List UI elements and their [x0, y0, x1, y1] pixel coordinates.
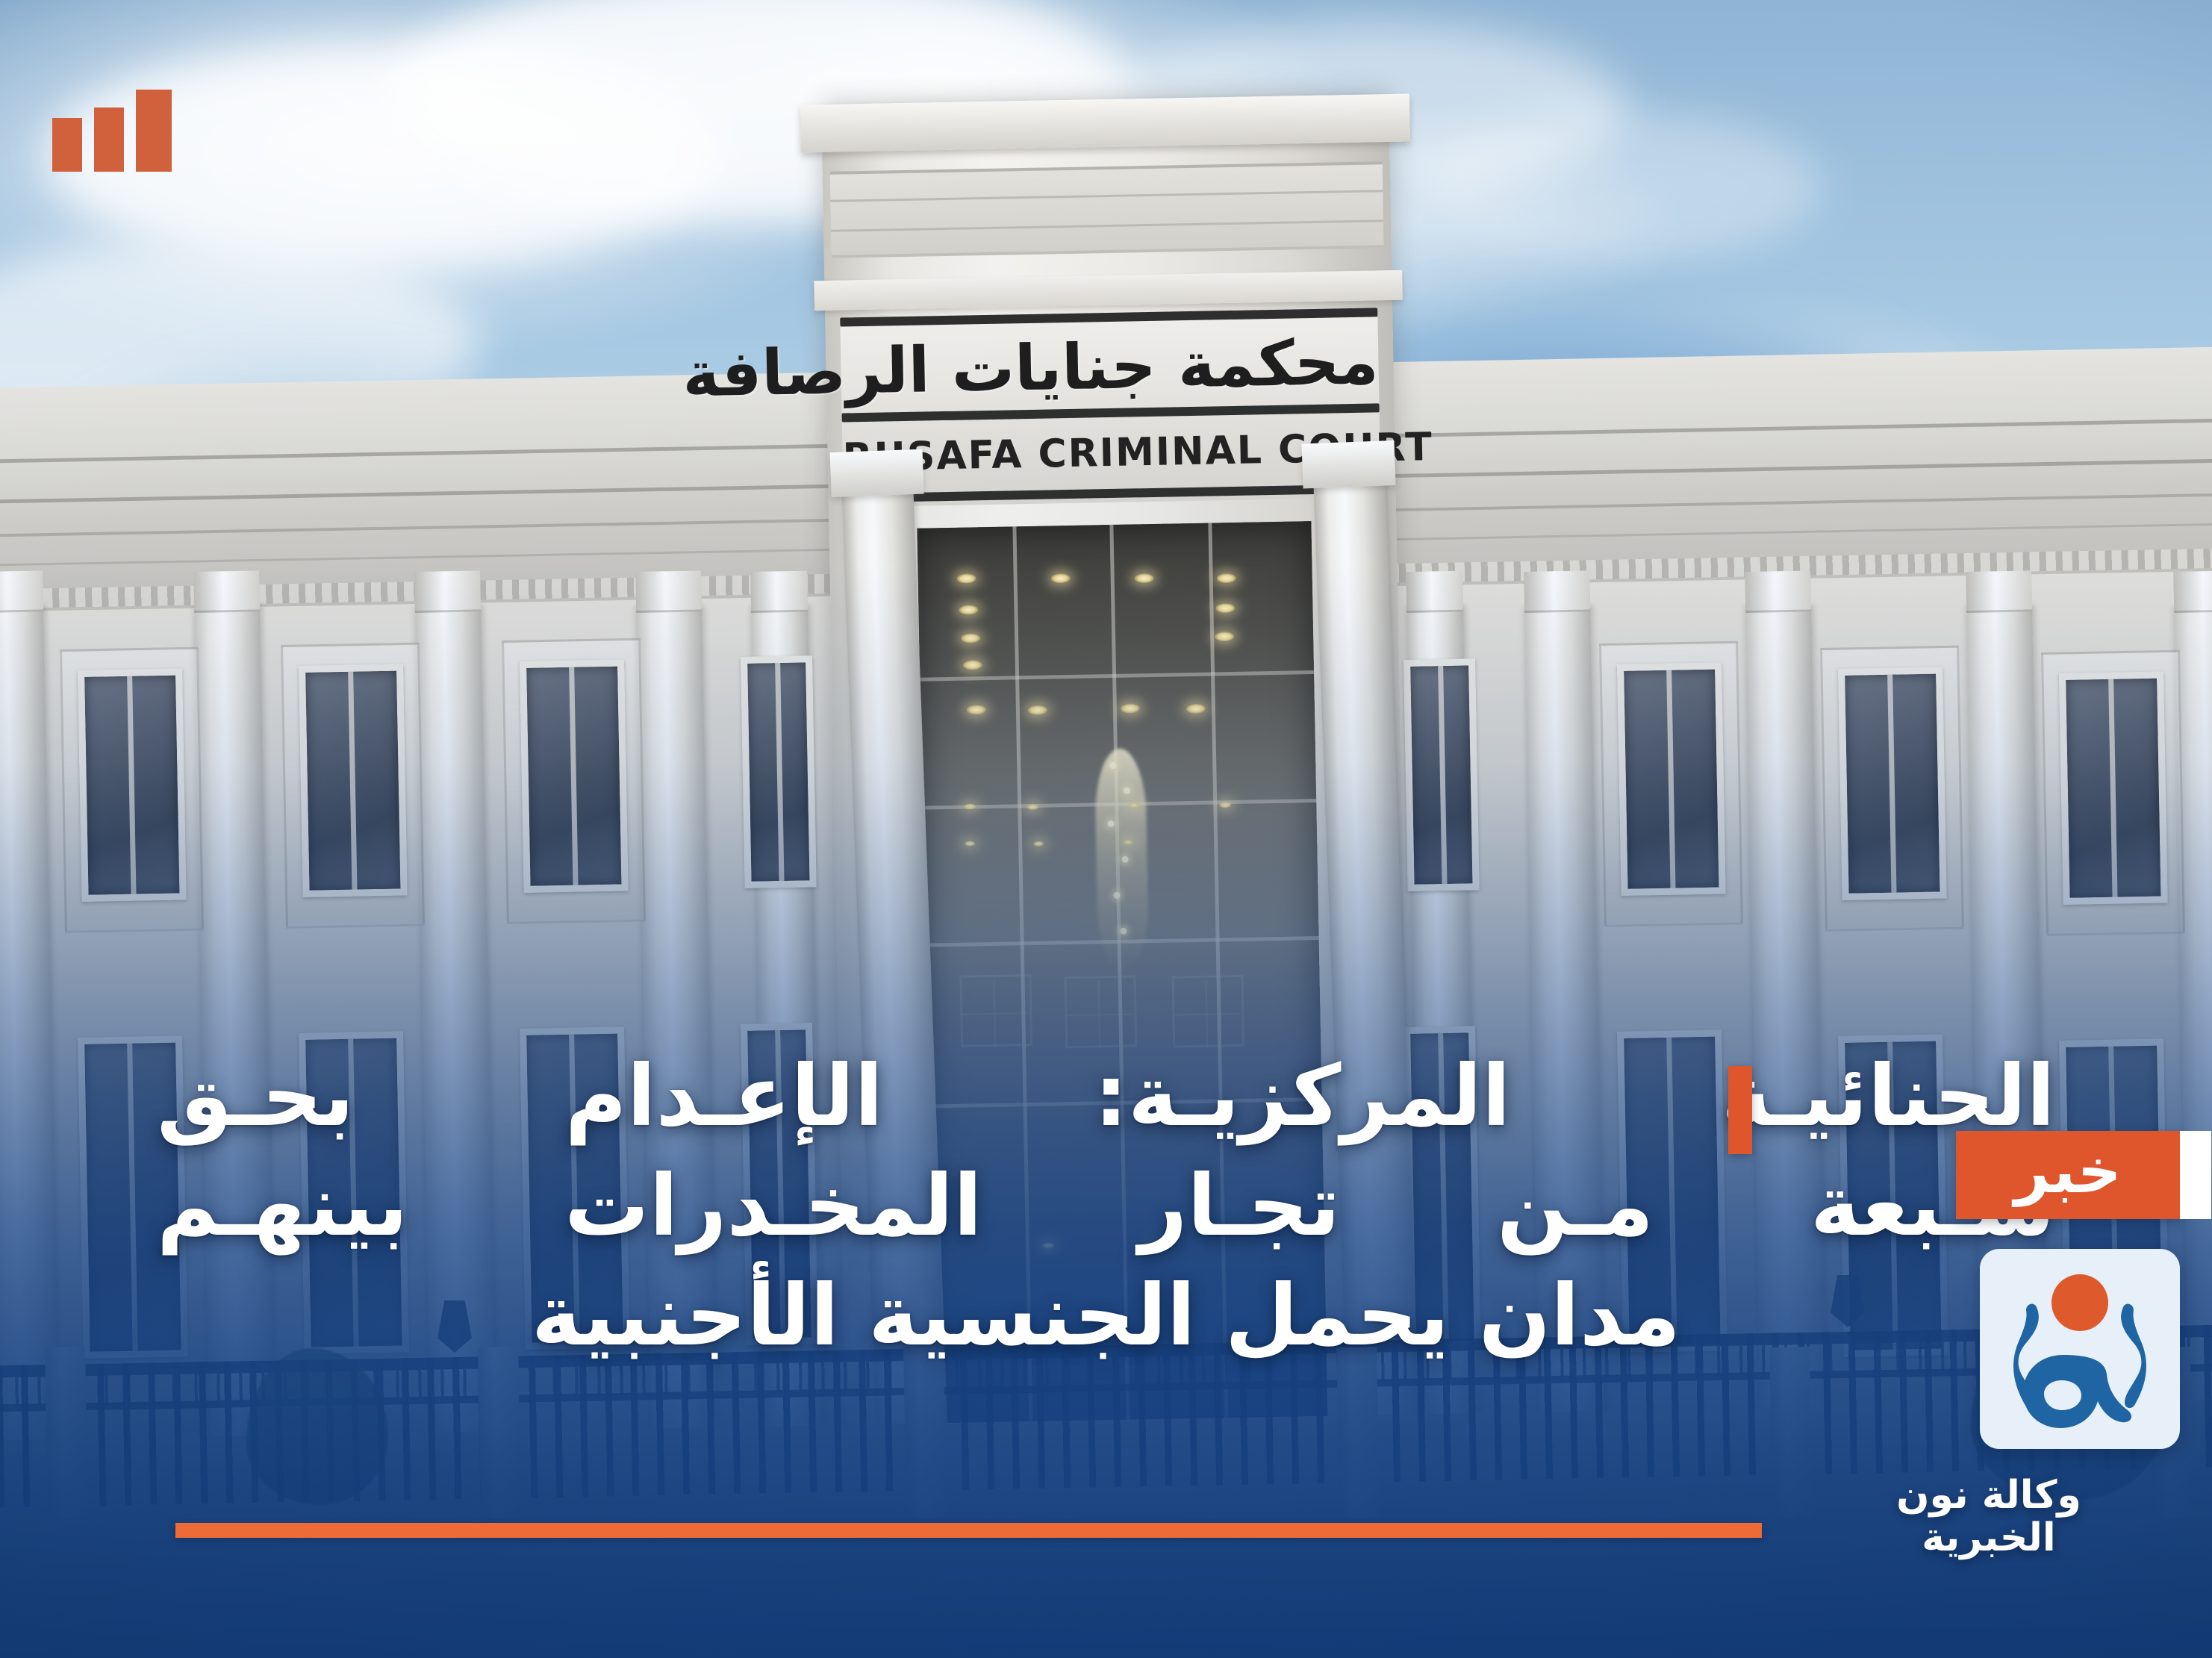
headline-word: الإعـدام — [565, 1041, 883, 1151]
agency-name: وكالة نون الخبرية — [1832, 1474, 2146, 1559]
headline-accent-bar — [1728, 1066, 1752, 1154]
news-card: محكمة جنايات الرصافة RUSAFA CRIMINAL COU… — [0, 0, 2212, 1658]
three-bar-logo — [52, 90, 172, 172]
news-badge: خبر — [1956, 1131, 2180, 1219]
logo-bar-1 — [136, 90, 172, 172]
headline-line-3: مدان يحمل الجنسية الأجنبية — [157, 1261, 2055, 1371]
headline-word: بينهـم — [157, 1151, 408, 1261]
headline-word: المركزيـة: — [1094, 1041, 1511, 1151]
logo-bar-3 — [52, 118, 82, 172]
news-badge-label: خبر — [2014, 1141, 2122, 1203]
orange-divider-rule — [175, 1523, 1762, 1538]
headline: الجنائيـة المركزيـة: الإعـدام بحـق سـبعة… — [157, 1041, 2055, 1371]
branding-cluster: خبر وكالة نون الخبرية — [1866, 1131, 2180, 1559]
headline-word: مـن — [1497, 1151, 1654, 1261]
headline-line-2: سـبعة مـن تجـار المخـدرات بينهـم — [157, 1151, 2055, 1261]
headline-word: تجـار — [1138, 1151, 1340, 1261]
headline-word: بحـق — [157, 1041, 354, 1151]
noon-agency-logo — [1980, 1249, 2180, 1449]
headline-word: المخـدرات — [564, 1151, 982, 1261]
headline-line-1: الجنائيـة المركزيـة: الإعـدام بحـق — [157, 1041, 2055, 1151]
logo-bar-2 — [94, 107, 124, 172]
badge-white-tab — [2180, 1131, 2211, 1219]
